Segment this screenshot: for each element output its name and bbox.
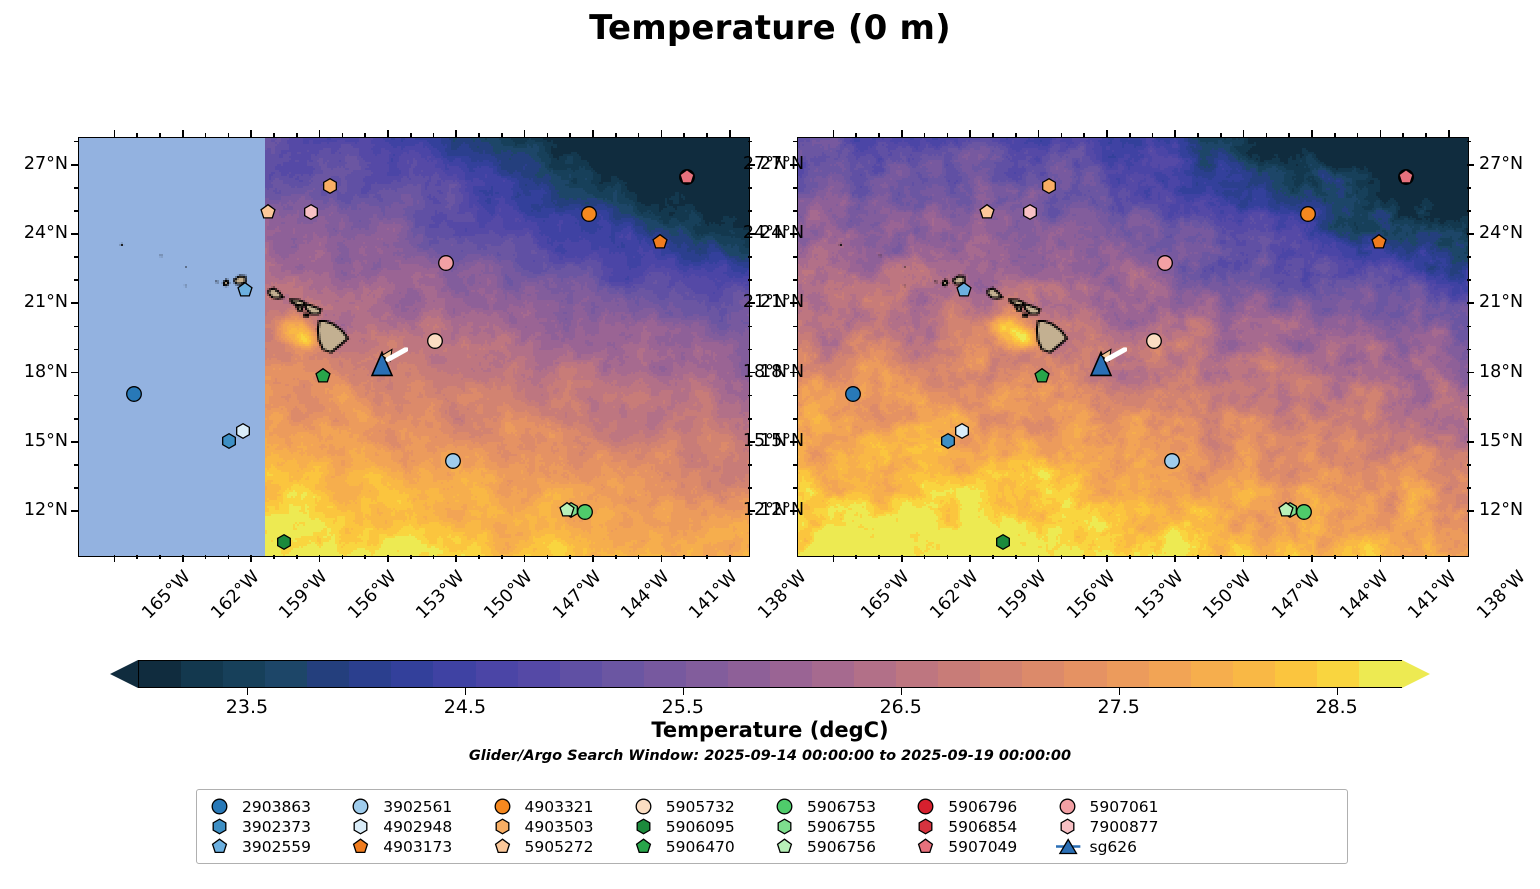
colorbar-segment-27 (1275, 661, 1320, 687)
ytick-minor-r-espc-5-1 (1467, 141, 1471, 143)
xtick-top-rtofs-8 (661, 130, 663, 137)
legend-item-4902948[interactable]: 4902948 (348, 817, 489, 837)
xtick-minor-top-espc-1-2 (947, 133, 949, 137)
xticklabel-espc-8: 141°W (1405, 567, 1461, 623)
yticklabel-right-espc-1: 15°N (1479, 431, 1540, 451)
ytick-minor-l-rtofs-4-1 (74, 210, 78, 212)
colorbar-segment-0 (139, 661, 184, 687)
xtick-minor-espc-4-1 (1129, 555, 1131, 559)
xtick-minor-top-espc-0-1 (855, 133, 857, 137)
colorbar-segment-17 (854, 661, 899, 687)
legend-item-3902559[interactable]: 3902559 (207, 837, 348, 857)
colorbar-segment-11 (602, 661, 647, 687)
yticklabel-left-espc-0: 12°N (709, 500, 787, 520)
xtick-minor-rtofs-1-2 (228, 555, 230, 559)
ytick-left-espc-3 (790, 302, 797, 304)
xtick-minor-espc-8-2 (1425, 555, 1427, 559)
colorbar-segment-29 (1359, 661, 1404, 687)
colorbar-segment-24 (1149, 661, 1194, 687)
map-panel-espc[interactable]: ESPC - 2025-09-19 00:00:00 (797, 137, 1469, 557)
ytick-minor-l-rtofs-4-2 (74, 187, 78, 189)
xtick-minor-espc-3-1 (1061, 555, 1063, 559)
xtick-top-espc-9 (1448, 130, 1450, 137)
platform-marker-4903321[interactable] (1300, 206, 1317, 223)
xtick-minor-espc-8-1 (1402, 555, 1404, 559)
platform-marker-5906756[interactable] (1277, 501, 1294, 518)
xticklabel-rtofs-5: 150°W (481, 567, 537, 623)
yticklabel-left-rtofs-2: 18°N (0, 362, 68, 382)
ytick-right-espc-5 (1467, 164, 1474, 166)
platform-marker-7900877[interactable] (1022, 203, 1039, 220)
legend-item-3902561[interactable]: 3902561 (348, 797, 489, 817)
legend-item-2903863[interactable]: 2903863 (207, 797, 348, 817)
ytick-minor-l-espc-1-2 (793, 395, 797, 397)
yticklabel-left-espc-2: 18°N (709, 362, 787, 382)
xtick-minor-rtofs-6-1 (547, 555, 549, 559)
xtick-minor-top-rtofs-3-2 (364, 133, 366, 137)
xtick-major-espc-2 (969, 555, 971, 562)
xtick-top-espc-4 (1106, 130, 1108, 137)
xtick-major-espc-0 (833, 555, 835, 562)
ytick-minor-r-rtofs-2-1 (748, 349, 752, 351)
ytick-minor-r-rtofs-3-1 (748, 279, 752, 281)
xtick-minor-top-rtofs-8-1 (683, 133, 685, 137)
colorbar-segment-15 (770, 661, 815, 687)
xtick-minor-top-espc-4-2 (1152, 133, 1154, 137)
ytick-minor-l-espc-2-2 (793, 326, 797, 328)
ytick-left-espc-4 (790, 233, 797, 235)
xtick-minor-top-rtofs-4-1 (410, 133, 412, 137)
legend-item-sg626[interactable]: sg626 (1055, 837, 1196, 857)
platform-marker-3902559[interactable] (237, 282, 254, 299)
xtick-minor-top-rtofs-4-2 (433, 133, 435, 137)
legend-marker-circle-icon (913, 798, 939, 816)
colorbar-segment-19 (938, 661, 983, 687)
legend-item-5907049[interactable]: 5907049 (913, 837, 1054, 857)
ytick-minor-l-rtofs-3-2 (74, 256, 78, 258)
xtick-top-rtofs-2 (250, 130, 252, 137)
legend-marker-pentagon-icon (490, 838, 516, 856)
xtick-minor-rtofs-0-1 (136, 555, 138, 559)
ytick-minor-r-espc-2-1 (1467, 349, 1471, 351)
legend-label: 5905732 (666, 798, 735, 816)
temperature-field-rtofs (79, 138, 749, 556)
legend-item-3902373[interactable]: 3902373 (207, 817, 348, 837)
legend-label: 5906753 (807, 798, 876, 816)
legend-grid: 2903863390256149033215905732590675359067… (207, 797, 1337, 857)
xticklabel-espc-9: 138°W (1473, 567, 1529, 623)
colorbar-extend-high (1402, 660, 1430, 688)
legend-marker-pentagon-icon (631, 838, 657, 856)
platform-marker-2903863[interactable] (125, 386, 142, 403)
ytick-minor-r-rtofs-5-1 (748, 141, 752, 143)
legend-label: 4903173 (383, 838, 452, 856)
colorbar-tick-5 (1337, 688, 1338, 695)
xtick-minor-top-rtofs-1-2 (228, 133, 230, 137)
platform-marker-5907061[interactable] (1156, 254, 1173, 271)
platform-marker-4903503[interactable] (321, 178, 338, 195)
xtick-minor-espc-4-2 (1152, 555, 1154, 559)
legend-item-5906854[interactable]: 5906854 (913, 817, 1054, 837)
xticklabel-espc-0: 165°W (858, 567, 914, 623)
ytick-minor-l-espc-4-1 (793, 210, 797, 212)
xtick-minor-rtofs-7-2 (638, 555, 640, 559)
xtick-minor-top-rtofs-1-1 (205, 133, 207, 137)
xtick-top-espc-0 (833, 130, 835, 137)
ytick-minor-l-espc-5-1 (793, 141, 797, 143)
ytick-minor-r-rtofs-4-2 (748, 187, 752, 189)
ytick-minor-r-rtofs-3-2 (748, 256, 752, 258)
xticklabel-rtofs-8: 141°W (686, 567, 742, 623)
colorbar: 23.524.525.526.527.528.5 (110, 660, 1430, 688)
xtick-minor-top-rtofs-5-2 (501, 133, 503, 137)
xtick-minor-top-espc-4-1 (1129, 133, 1131, 137)
legend-label: 3902559 (242, 838, 311, 856)
platform-marker-4903321[interactable] (581, 206, 598, 223)
xtick-minor-rtofs-2-2 (296, 555, 298, 559)
xtick-minor-top-rtofs-5-1 (478, 133, 480, 137)
platform-marker-sg626[interactable] (368, 347, 408, 377)
colorbar-segment-23 (1107, 661, 1152, 687)
platform-marker-5905732[interactable] (1145, 333, 1162, 350)
xticklabel-rtofs-7: 144°W (617, 567, 673, 623)
colorbar-segment-9 (518, 661, 563, 687)
ytick-minor-r-rtofs-1-2 (748, 395, 752, 397)
legend-label: 7900877 (1090, 818, 1159, 836)
xtick-major-espc-3 (1038, 555, 1040, 562)
ytick-minor-r-espc-3-1 (1467, 279, 1471, 281)
ytick-minor-r-rtofs-0-2 (748, 464, 752, 466)
figure-title: Temperature (0 m) (0, 8, 1540, 48)
legend-marker-circle-icon (207, 798, 233, 816)
xtick-minor-rtofs-8-2 (706, 555, 708, 559)
platform-marker-4902948[interactable] (235, 423, 252, 440)
xtick-top-espc-1 (901, 130, 903, 137)
xtick-minor-rtofs-8-1 (683, 555, 685, 559)
platform-marker-4903173[interactable] (1371, 233, 1388, 250)
ytick-minor-l-rtofs-3-1 (74, 279, 78, 281)
xtick-major-espc-1 (901, 555, 903, 562)
ytick-minor-r-espc-3-2 (1467, 256, 1471, 258)
xticklabel-rtofs-2: 159°W (276, 567, 332, 623)
xtick-minor-top-rtofs-7-2 (638, 133, 640, 137)
colorbar-segment-28 (1317, 661, 1362, 687)
xtick-minor-espc-3-2 (1083, 555, 1085, 559)
xtick-minor-rtofs-5-2 (501, 555, 503, 559)
xtick-major-rtofs-5 (455, 555, 457, 562)
xtick-minor-rtofs-3-2 (364, 555, 366, 559)
ytick-minor-r-espc-0-2 (1467, 464, 1471, 466)
yticklabel-left-rtofs-5: 27°N (0, 154, 68, 174)
legend-marker-triangle-track-icon (1055, 838, 1081, 856)
xtick-minor-espc-6-2 (1288, 555, 1290, 559)
xticklabel-espc-1: 162°W (926, 567, 982, 623)
legend-label: sg626 (1090, 838, 1138, 856)
xtick-major-rtofs-1 (182, 555, 184, 562)
xticklabel-rtofs-9: 138°W (754, 567, 810, 623)
ytick-minor-l-rtofs-1-2 (74, 395, 78, 397)
legend-item-4903173[interactable]: 4903173 (348, 837, 489, 857)
platform-marker-5906470[interactable] (1033, 367, 1050, 384)
colorbar-segment-25 (1191, 661, 1236, 687)
xtick-minor-espc-6-1 (1266, 555, 1268, 559)
platform-marker-5906095[interactable] (995, 534, 1012, 551)
legend-label: 5905272 (525, 838, 594, 856)
xtick-top-espc-8 (1380, 130, 1382, 137)
legend-item-5906095[interactable]: 5906095 (631, 817, 772, 837)
xtick-top-rtofs-9 (729, 130, 731, 137)
xticklabel-espc-5: 150°W (1200, 567, 1256, 623)
ytick-minor-l-rtofs-0-2 (74, 464, 78, 466)
platform-marker-3902561[interactable] (1163, 453, 1180, 470)
legend-label: 5906755 (807, 818, 876, 836)
colorbar-tick-1 (465, 688, 466, 695)
colorbar-gradient (138, 660, 1402, 688)
platform-marker-5906470[interactable] (314, 367, 331, 384)
platform-marker-3902559[interactable] (956, 282, 973, 299)
xtick-major-rtofs-9 (729, 555, 731, 562)
ytick-minor-r-rtofs-2-2 (748, 326, 752, 328)
xtick-top-rtofs-0 (114, 130, 116, 137)
ytick-left-espc-5 (790, 164, 797, 166)
legend-marker-hexagon-icon (207, 818, 233, 836)
xtick-top-rtofs-3 (319, 130, 321, 137)
xtick-minor-rtofs-4-1 (410, 555, 412, 559)
legend-marker-circle-icon (490, 798, 516, 816)
ytick-minor-r-espc-4-1 (1467, 210, 1471, 212)
colorbar-segment-2 (223, 661, 268, 687)
xtick-minor-top-rtofs-0-2 (159, 133, 161, 137)
xtick-major-rtofs-6 (524, 555, 526, 562)
legend-label: 5906756 (807, 838, 876, 856)
xtick-top-espc-2 (969, 130, 971, 137)
yticklabel-right-espc-5: 27°N (1479, 154, 1540, 174)
yticklabel-left-espc-1: 15°N (709, 431, 787, 451)
yticklabel-left-rtofs-0: 12°N (0, 500, 68, 520)
legend-item-7900877[interactable]: 7900877 (1055, 817, 1196, 837)
xticklabel-rtofs-3: 156°W (344, 567, 400, 623)
xtick-minor-espc-0-1 (855, 555, 857, 559)
xtick-minor-espc-2-1 (992, 555, 994, 559)
colorbar-tick-4 (1119, 688, 1120, 695)
ytick-left-espc-2 (790, 372, 797, 374)
xticklabel-espc-2: 159°W (995, 567, 1051, 623)
xtick-minor-espc-5-1 (1197, 555, 1199, 559)
colorbar-segment-7 (433, 661, 478, 687)
colorbar-segment-21 (1022, 661, 1067, 687)
colorbar-tick-2 (683, 688, 684, 695)
platform-marker-5907049[interactable] (679, 169, 696, 186)
xticklabel-espc-4: 153°W (1131, 567, 1187, 623)
xtick-top-espc-6 (1243, 130, 1245, 137)
legend-item-5906470[interactable]: 5906470 (631, 837, 772, 857)
xtick-major-rtofs-8 (661, 555, 663, 562)
colorbar-segment-13 (686, 661, 731, 687)
platform-marker-5906756[interactable] (558, 501, 575, 518)
xtick-minor-top-rtofs-6-1 (547, 133, 549, 137)
ytick-minor-l-rtofs-2-1 (74, 349, 78, 351)
ytick-minor-l-espc-4-2 (793, 187, 797, 189)
xtick-top-rtofs-7 (592, 130, 594, 137)
legend-marker-circle-icon (1055, 798, 1081, 816)
xtick-major-espc-7 (1311, 555, 1313, 562)
legend-marker-hexagon-icon (1055, 818, 1081, 836)
ytick-minor-l-espc-3-1 (793, 279, 797, 281)
xticklabel-espc-6: 147°W (1268, 567, 1324, 623)
xtick-minor-espc-5-2 (1220, 555, 1222, 559)
colorbar-segment-14 (728, 661, 773, 687)
xtick-top-rtofs-4 (387, 130, 389, 137)
platform-marker-5905272[interactable] (260, 203, 277, 220)
platform-marker-2903863[interactable] (844, 386, 861, 403)
xtick-top-espc-5 (1174, 130, 1176, 137)
platform-marker-4902948[interactable] (954, 423, 971, 440)
ytick-left-rtofs-0 (71, 510, 78, 512)
xtick-major-espc-5 (1174, 555, 1176, 562)
legend-marker-hexagon-icon (913, 818, 939, 836)
ytick-minor-l-rtofs-2-2 (74, 326, 78, 328)
legend-label: 4902948 (383, 818, 452, 836)
legend-label: 5906470 (666, 838, 735, 856)
legend-item-4903321[interactable]: 4903321 (490, 797, 631, 817)
legend-item-5905272[interactable]: 5905272 (490, 837, 631, 857)
xtick-major-rtofs-3 (319, 555, 321, 562)
colorbar-segment-22 (1064, 661, 1109, 687)
search-window-note: Glider/Argo Search Window: 2025-09-14 00… (0, 748, 1540, 764)
ytick-minor-r-espc-4-2 (1467, 187, 1471, 189)
xtick-minor-rtofs-2-1 (273, 555, 275, 559)
xtick-major-rtofs-0 (114, 555, 116, 562)
ytick-minor-l-espc-0-2 (793, 464, 797, 466)
xtick-minor-top-espc-6-2 (1288, 133, 1290, 137)
legend-item-5905732[interactable]: 5905732 (631, 797, 772, 817)
ytick-minor-l-rtofs-0-1 (74, 487, 78, 489)
legend-empty-cell (1196, 837, 1337, 857)
xticklabel-rtofs-6: 147°W (549, 567, 605, 623)
ytick-minor-l-espc-2-1 (793, 349, 797, 351)
yticklabel-left-espc-5: 27°N (709, 154, 787, 174)
colorbar-segment-8 (476, 661, 521, 687)
colorbar-segment-26 (1233, 661, 1278, 687)
ytick-minor-l-rtofs-5-1 (74, 141, 78, 143)
platform-marker-3902561[interactable] (444, 453, 461, 470)
xtick-minor-top-espc-2-2 (1015, 133, 1017, 137)
colorbar-ticklabel-5: 28.5 (1315, 696, 1357, 718)
xtick-minor-top-espc-3-2 (1083, 133, 1085, 137)
xticklabel-rtofs-1: 162°W (207, 567, 263, 623)
xtick-minor-espc-1-2 (947, 555, 949, 559)
platform-marker-5907049[interactable] (1398, 169, 1415, 186)
platform-marker-7900877[interactable] (303, 203, 320, 220)
legend-label: 5907049 (948, 838, 1017, 856)
xtick-minor-top-espc-8-1 (1402, 133, 1404, 137)
xtick-top-espc-7 (1311, 130, 1313, 137)
legend-item-5906753[interactable]: 5906753 (772, 797, 913, 817)
xticklabel-rtofs-0: 165°W (139, 567, 195, 623)
map-panel-rtofs[interactable]: RTOFS - 2025-09-19 00:00:00 (78, 137, 750, 557)
xtick-minor-top-rtofs-8-2 (706, 133, 708, 137)
ytick-left-rtofs-5 (71, 164, 78, 166)
yticklabel-right-espc-2: 18°N (1479, 362, 1540, 382)
xtick-minor-espc-7-1 (1334, 555, 1336, 559)
xtick-minor-top-rtofs-7-1 (615, 133, 617, 137)
platform-marker-5907061[interactable] (437, 254, 454, 271)
xtick-minor-top-rtofs-2-1 (273, 133, 275, 137)
ytick-minor-r-rtofs-0-1 (748, 487, 752, 489)
platform-marker-4903173[interactable] (652, 233, 669, 250)
legend-item-5906796[interactable]: 5906796 (913, 797, 1054, 817)
legend-item-5906755[interactable]: 5906755 (772, 817, 913, 837)
xtick-minor-espc-7-2 (1357, 555, 1359, 559)
temperature-field-espc (798, 138, 1468, 556)
ytick-minor-l-espc-3-2 (793, 256, 797, 258)
platform-marker-4903503[interactable] (1040, 178, 1057, 195)
xticklabel-rtofs-4: 153°W (412, 567, 468, 623)
xtick-minor-top-espc-1-1 (924, 133, 926, 137)
xtick-minor-espc-0-2 (878, 555, 880, 559)
legend-item-5907061[interactable]: 5907061 (1055, 797, 1196, 817)
ytick-left-rtofs-2 (71, 372, 78, 374)
platform-marker-5906095[interactable] (276, 534, 293, 551)
xtick-minor-espc-2-2 (1015, 555, 1017, 559)
colorbar-extend-low (110, 660, 138, 688)
platform-marker-5905732[interactable] (426, 333, 443, 350)
xtick-minor-top-espc-5-2 (1220, 133, 1222, 137)
colorbar-ticklabel-1: 24.5 (444, 696, 486, 718)
legend-marker-pentagon-icon (348, 838, 374, 856)
legend-label: 5906796 (948, 798, 1017, 816)
yticklabel-left-espc-3: 21°N (709, 292, 787, 312)
legend-item-5906756[interactable]: 5906756 (772, 837, 913, 857)
legend-label: 4903321 (525, 798, 594, 816)
xtick-minor-top-espc-7-2 (1357, 133, 1359, 137)
ytick-left-espc-0 (790, 510, 797, 512)
legend-label: 5907061 (1090, 798, 1159, 816)
xtick-major-espc-8 (1380, 555, 1382, 562)
platform-marker-5905272[interactable] (979, 203, 996, 220)
xtick-major-espc-4 (1106, 555, 1108, 562)
ytick-minor-r-espc-0-1 (1467, 487, 1471, 489)
platform-legend[interactable]: 2903863390256149033215905732590675359067… (196, 789, 1348, 864)
legend-marker-pentagon-icon (207, 838, 233, 856)
xtick-minor-top-rtofs-2-2 (296, 133, 298, 137)
xtick-minor-top-espc-0-2 (878, 133, 880, 137)
colorbar-segment-1 (181, 661, 226, 687)
xtick-minor-rtofs-3-1 (342, 555, 344, 559)
ytick-minor-r-espc-1-2 (1467, 395, 1471, 397)
legend-label: 5906854 (948, 818, 1017, 836)
colorbar-segment-18 (896, 661, 941, 687)
xtick-major-rtofs-4 (387, 555, 389, 562)
colorbar-ticklabel-3: 26.5 (880, 696, 922, 718)
xtick-minor-rtofs-4-2 (433, 555, 435, 559)
legend-marker-hexagon-icon (772, 818, 798, 836)
yticklabel-left-rtofs-3: 21°N (0, 292, 68, 312)
colorbar-ticklabel-0: 23.5 (226, 696, 268, 718)
xtick-major-rtofs-2 (250, 555, 252, 562)
xtick-top-espc-3 (1038, 130, 1040, 137)
colorbar-tick-0 (247, 688, 248, 695)
colorbar-segment-16 (812, 661, 857, 687)
legend-empty-cell (1196, 817, 1337, 837)
legend-label: 3902373 (242, 818, 311, 836)
xtick-major-rtofs-7 (592, 555, 594, 562)
xticklabel-espc-3: 156°W (1063, 567, 1119, 623)
ytick-right-espc-2 (1467, 372, 1474, 374)
xtick-major-espc-6 (1243, 555, 1245, 562)
legend-item-4903503[interactable]: 4903503 (490, 817, 631, 837)
platform-marker-sg626[interactable] (1087, 347, 1127, 377)
